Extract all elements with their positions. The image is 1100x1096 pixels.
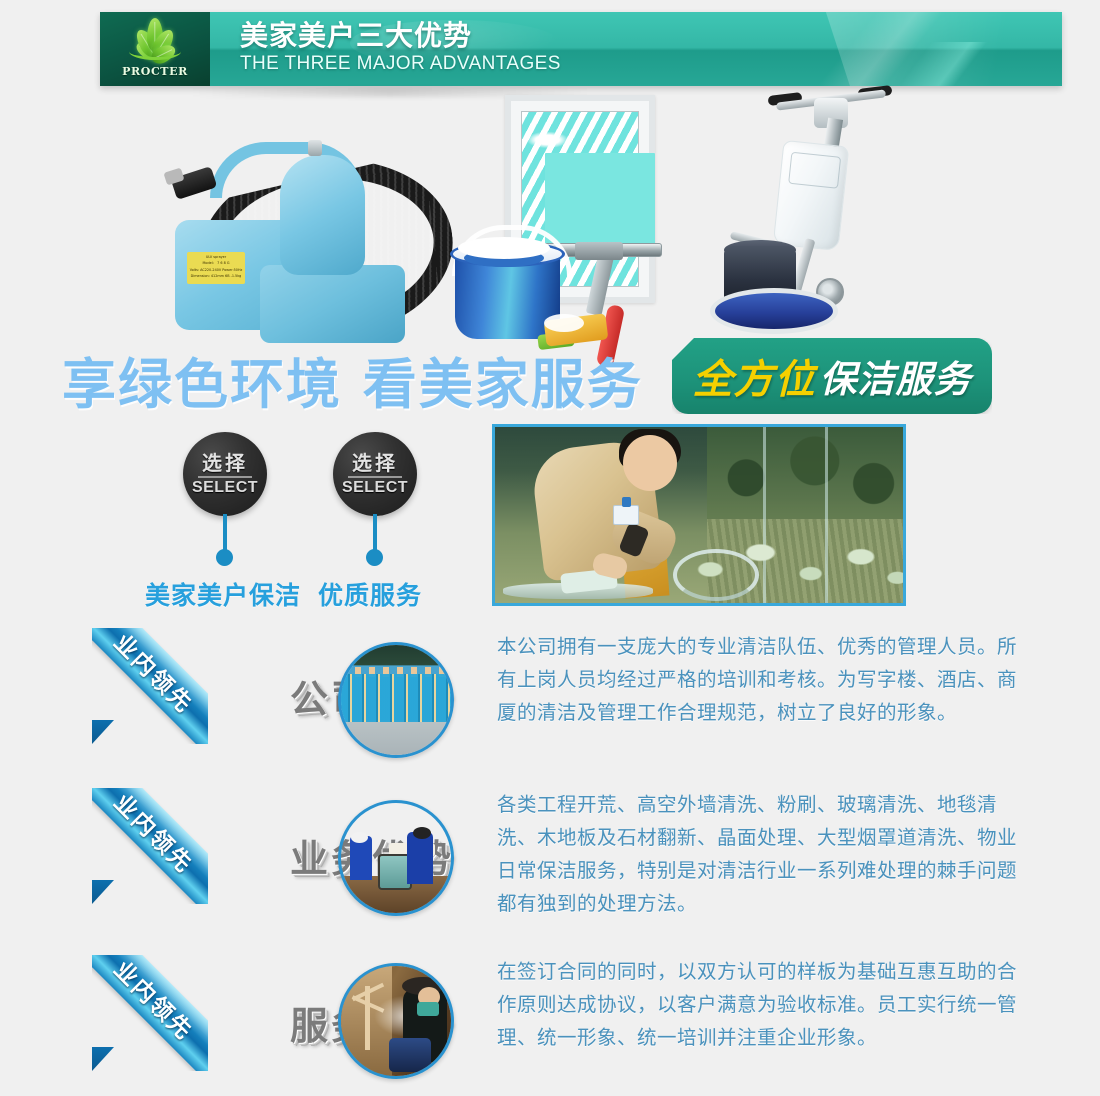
select-badge-2-label: 优质服务 [318, 576, 422, 612]
main-headline: 享绿色环境 看美家服务 [62, 340, 643, 419]
select-badge-2-divider [348, 476, 402, 478]
select-badge-2-cn: 选择 [352, 453, 398, 473]
advantage-row-1: 业内领先 公司优势 本公司拥有一支庞大的专业清洁队伍、优秀的管理人员。所有上岗人… [0, 628, 1100, 778]
advantage-ribbon-3-band: 业内领先 [92, 955, 208, 1071]
polisher-pad-disc [710, 288, 838, 334]
select-badge-2-dot [366, 549, 383, 566]
leaf-crown-icon [116, 20, 194, 64]
ulv-sprayer-image: ULV sprayer Model： 7 6 8 G Volts: AC220-… [165, 100, 440, 340]
advantage-text-2: 各类工程开荒、高空外墙清洗、粉刷、玻璃清洗、地毯清洗、木地板及石材翻新、晶面处理… [497, 788, 1017, 920]
photo-worker-id-badge [613, 505, 639, 525]
header-diagonal-streak [683, 12, 1057, 86]
team-lineup-photo [338, 642, 454, 758]
team-lineup-photo-content [341, 645, 451, 755]
advantage-ribbon-2-text: 业内领先 [108, 788, 203, 879]
advantage-ribbon-1-band: 业内领先 [92, 628, 208, 744]
service-banner-highlight: 全方位 [693, 347, 816, 405]
sprayer-spec-label: ULV sprayer Model： 7 6 8 G Volts: AC220-… [187, 252, 245, 284]
select-badge-1-dot [216, 549, 233, 566]
select-badge-1-label: 美家美户保洁 [145, 576, 301, 612]
photo-worker-head [623, 435, 677, 491]
advantage-ribbon-2: 业内领先 [92, 788, 208, 904]
select-badge-1[interactable]: 选择 SELECT [183, 432, 267, 516]
advantage-ribbon-3-text: 业内领先 [108, 955, 203, 1046]
service-banner: 全方位 保洁服务 [672, 338, 992, 414]
bucket-foam [458, 237, 550, 259]
advantage-ribbon-2-tail [92, 880, 114, 904]
select-badge-1-en: SELECT [192, 480, 258, 496]
select-badge-2-stem [373, 514, 377, 552]
advantage-ribbon-3-tail [92, 1047, 114, 1071]
window-cleaning-kit-image [450, 95, 685, 343]
advantage-row-2: 业内领先 业务优势 各类工程开荒、高空外墙清洗、粉刷、玻璃清洗、地毯清洗、木地板… [0, 788, 1100, 948]
select-badge-2[interactable]: 选择 SELECT [333, 432, 417, 516]
photo-chair [673, 549, 759, 601]
header-diagonal-streak-secondary [808, 42, 1052, 86]
advantage-ribbon-1: 业内领先 [92, 628, 208, 744]
sprayer-head [280, 155, 365, 275]
advantage-text-3: 在签订合同的同时，以双方认可的样板为基础互惠互助的合作原则达成协议，以客户满意为… [497, 955, 1017, 1054]
advantage-ribbon-1-tail [92, 720, 114, 744]
indoor-cleaning-photo [338, 800, 454, 916]
sprayer-label-spec2: Dimension: 412mm 6B -1.5kg [189, 273, 243, 279]
brand-logo-text: PROCTER [122, 65, 188, 78]
indoor-cleaning-photo-content [341, 803, 451, 913]
header-title-group: 美家美户三大优势 THE THREE MAJOR ADVANTAGES [240, 21, 561, 75]
floor-polisher-image [710, 88, 940, 343]
sprayer-knob [308, 140, 322, 156]
page-header: PROCTER 美家美户三大优势 THE THREE MAJOR ADVANTA… [100, 12, 1062, 86]
squeegee-clean-area [545, 153, 655, 245]
header-title-en: THE THREE MAJOR ADVANTAGES [240, 53, 561, 75]
select-badge-1-stem [223, 514, 227, 552]
advantage-row-3: 业内领先 服务优势 在签订合同的同时，以双方认可的样板为基础互惠互助的合作原则达… [0, 955, 1100, 1095]
sprayer-base [260, 265, 405, 343]
advantage-text-1: 本公司拥有一支庞大的专业清洁队伍、优秀的管理人员。所有上岗人员均经过严格的培训和… [497, 630, 1017, 729]
spraying-worker-photo [338, 963, 454, 1079]
select-badge-1-cn: 选择 [202, 453, 248, 473]
select-badge-2-en: SELECT [342, 480, 408, 496]
advantage-ribbon-2-band: 业内领先 [92, 788, 208, 904]
brand-logo: PROCTER [100, 12, 210, 86]
header-title-cn: 美家美户三大优势 [240, 21, 561, 50]
polisher-solution-tank [773, 140, 850, 251]
service-banner-text: 保洁服务 [820, 349, 972, 403]
cleaning-staff-photo [492, 424, 906, 606]
advantage-ribbon-1-text: 业内领先 [108, 628, 203, 719]
sponge-foam [544, 314, 584, 332]
spraying-worker-photo-content [341, 966, 451, 1076]
select-badge-1-divider [198, 476, 252, 478]
advantage-ribbon-3: 业内领先 [92, 955, 208, 1071]
